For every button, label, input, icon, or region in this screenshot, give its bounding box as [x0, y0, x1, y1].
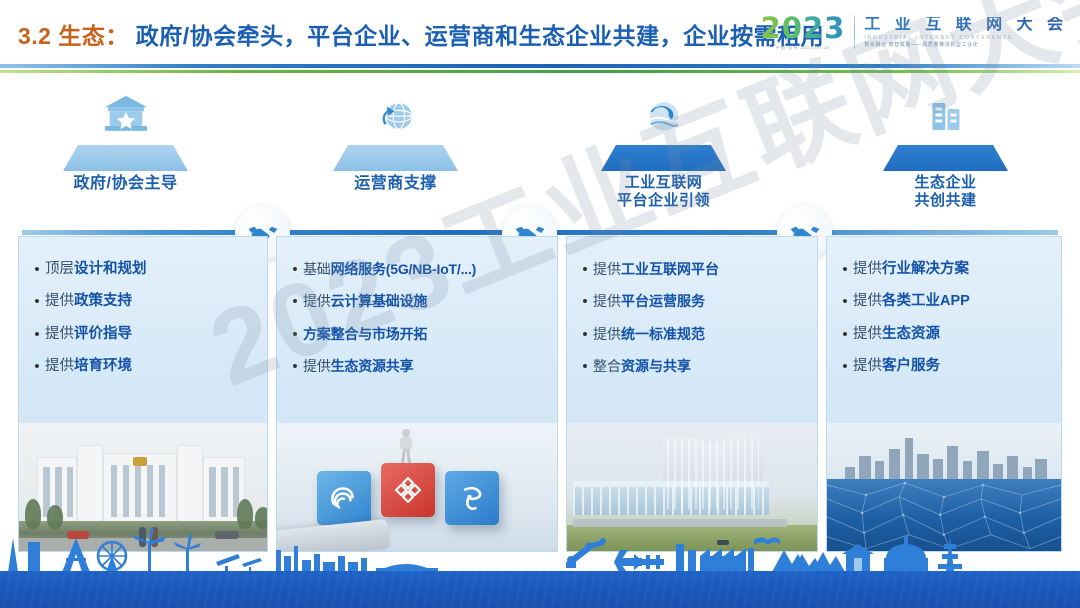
list-item: • 顶层设计和规划 — [29, 261, 261, 278]
city-skyline-network-photo — [827, 423, 1061, 551]
list-item: • 提供云计算基础设施 — [287, 293, 551, 310]
pillar-head-platform: 工业互联网 平台企业引领 — [556, 78, 771, 210]
list-item: • 提供统一标准规范 — [577, 326, 811, 343]
title-topic: 生态 — [58, 23, 105, 49]
pillar-plinth — [883, 145, 1008, 171]
list-item: • 提供生态资源共享 — [287, 358, 551, 375]
list-item: • 提供平台运营服务 — [577, 293, 811, 310]
list-item: • 整合资源与共享 — [577, 358, 811, 375]
band-wave-texture — [0, 571, 1080, 608]
bullet-marker: • — [29, 358, 45, 375]
china-unicom-cube-icon — [381, 463, 435, 517]
tablet-device — [276, 519, 390, 552]
logo-divider — [854, 15, 855, 49]
bullet-marker: • — [837, 293, 853, 310]
china-telecom-cube-icon — [445, 471, 499, 525]
pillar-plinth — [333, 145, 458, 171]
pillar-head-ecosystem: 生态企业 共创共建 — [838, 78, 1053, 210]
page-title: 3.2 生态： 政府/协会牵头，平台企业、运营商和生态企业共建，企业按需租用 — [18, 17, 824, 51]
list-item-text: 提供统一标准规范 — [593, 326, 811, 342]
title-main: 政府/协会牵头，平台企业、运营商和生态企业共建，企业按需租用 — [136, 23, 824, 49]
bullet-marker: • — [577, 261, 593, 278]
logo-year-subtitle: 中国·苏州 2023.09.20 — [761, 46, 846, 50]
logo-name-block: 工 业 互 联 网 大 会 INDUSTRIAL INTERNET CONFER… — [864, 17, 1068, 48]
logo-name-sub: 数实融合 数智赋能——高质量推进新型工业化 — [864, 43, 1068, 48]
bullet-list: • 顶层设计和规划 • 提供政策支持 • 提供评价指导 • 提供培育环境 — [19, 237, 267, 375]
list-item: • 提供工业互联网平台 — [577, 261, 811, 278]
card-government: • 顶层设计和规划 • 提供政策支持 • 提供评价指导 • 提供培育环境 — [18, 236, 268, 552]
list-item: • 基础网络服务(5G/NB-IoT/...) — [287, 261, 551, 278]
pillar-caption: 运营商支撑 — [288, 174, 503, 193]
logo-year: 2023 — [761, 14, 846, 43]
conference-logo: 2023 中国·苏州 2023.09.20 工 业 互 联 网 大 会 INDU… — [761, 10, 1068, 54]
pillar-caption-line1: 工业互联网 — [556, 174, 771, 192]
list-item: • 提供培育环境 — [29, 358, 261, 375]
office-buildings-icon — [838, 78, 1053, 140]
list-item-text: 基础网络服务(5G/NB-IoT/...) — [303, 261, 551, 277]
bullet-marker: • — [287, 293, 303, 310]
list-item-text: 提供行业解决方案 — [853, 261, 1055, 278]
globe-network-icon — [288, 78, 503, 140]
bullet-list: • 基础网络服务(5G/NB-IoT/...) • 提供云计算基础设施 • 方案… — [277, 237, 557, 375]
list-item: • 提供行业解决方案 — [837, 261, 1055, 278]
card-platform: • 提供工业互联网平台 • 提供平台运营服务 • 提供统一标准规范 • 整合资源… — [566, 236, 818, 552]
bullet-marker: • — [29, 326, 45, 343]
pillar-caption-line1: 生态企业 — [838, 174, 1053, 192]
pillar-caption: 生态企业 共创共建 — [838, 174, 1053, 210]
list-item: • 提供各类工业APP — [837, 293, 1055, 310]
pillar-plinth — [601, 145, 726, 171]
list-item-text: 顶层设计和规划 — [45, 261, 261, 278]
bullet-list: • 提供行业解决方案 • 提供各类工业APP • 提供生态资源 • 提供客户服务 — [827, 237, 1061, 375]
list-item-text: 提供各类工业APP — [853, 293, 1055, 310]
figure-silhouette — [399, 429, 413, 463]
bullet-marker: • — [837, 358, 853, 375]
title-number: 3.2 — [18, 23, 51, 49]
list-item-text: 提供工业互联网平台 — [593, 261, 811, 277]
header-rule-blue — [0, 64, 1080, 68]
government-building-icon — [18, 78, 233, 140]
telecom-operator-cubes-photo — [277, 423, 557, 551]
logo-year-block: 2023 中国·苏州 2023.09.20 — [761, 14, 846, 50]
logo-name-cn: 工 业 互 联 网 大 会 — [864, 17, 1068, 33]
pillar-caption-line2: 共创共建 — [838, 192, 1053, 210]
list-item-text: 提供评价指导 — [45, 326, 261, 343]
pillar-caption: 工业互联网 平台企业引领 — [556, 174, 771, 210]
list-item: • 提供客户服务 — [837, 358, 1055, 375]
title-colon: ： — [105, 23, 129, 49]
list-item-text: 提供客户服务 — [853, 358, 1055, 375]
list-item: • 提供生态资源 — [837, 326, 1055, 343]
bullet-marker: • — [577, 293, 593, 310]
network-mesh-overlay — [827, 479, 1061, 551]
list-item-text: 方案整合与市场开拓 — [303, 326, 551, 342]
header-rule-green — [0, 70, 1080, 73]
bullet-marker: • — [29, 293, 45, 310]
glass-campus-photo — [567, 423, 817, 551]
bullet-marker: • — [287, 261, 303, 278]
list-item: • 提供评价指导 — [29, 326, 261, 343]
list-item-text: 提供云计算基础设施 — [303, 293, 551, 309]
pillar-head-operator: 运营商支撑 — [288, 78, 503, 193]
list-item-text: 提供生态资源共享 — [303, 358, 551, 374]
list-item-text: 提供平台运营服务 — [593, 293, 811, 309]
pillar-caption-line2: 平台企业引领 — [556, 192, 771, 210]
government-building-photo — [19, 423, 267, 551]
bullet-list: • 提供工业互联网平台 • 提供平台运营服务 • 提供统一标准规范 • 整合资源… — [567, 237, 817, 375]
list-item-text: 提供生态资源 — [853, 326, 1055, 343]
pillar-caption: 政府/协会主导 — [18, 174, 233, 193]
bullet-marker: • — [287, 358, 303, 375]
bullet-marker: • — [837, 261, 853, 278]
list-item: • 方案整合与市场开拓 — [287, 326, 551, 343]
card-ecosystem: • 提供行业解决方案 • 提供各类工业APP • 提供生态资源 • 提供客户服务 — [826, 236, 1062, 552]
bullet-marker: • — [29, 261, 45, 278]
china-mobile-cube-icon — [317, 471, 371, 525]
list-item-text: 整合资源与共享 — [593, 358, 811, 374]
slide-header: 3.2 生态： 政府/协会牵头，平台企业、运营商和生态企业共建，企业按需租用 2… — [0, 0, 1080, 62]
bullet-marker: • — [837, 326, 853, 343]
logo-name-en: INDUSTRIAL INTERNET CONFERENCE — [864, 36, 1068, 41]
list-item-text: 提供培育环境 — [45, 358, 261, 375]
bullet-marker: • — [577, 358, 593, 375]
card-operator: • 基础网络服务(5G/NB-IoT/...) • 提供云计算基础设施 • 方案… — [276, 236, 558, 552]
pillar-head-government: 政府/协会主导 — [18, 78, 233, 193]
pillar-cards: • 顶层设计和规划 • 提供政策支持 • 提供评价指导 • 提供培育环境 — [18, 236, 1062, 552]
bullet-marker: • — [287, 326, 303, 343]
cloud-wave-icon — [556, 78, 771, 140]
pillar-heads: 政府/协会主导 运营商支撑 工业互联网 — [0, 78, 1080, 228]
bullet-marker: • — [577, 326, 593, 343]
list-item-text: 提供政策支持 — [45, 293, 261, 310]
bottom-blue-band — [0, 571, 1080, 608]
pillar-plinth — [63, 145, 188, 171]
list-item: • 提供政策支持 — [29, 293, 261, 310]
